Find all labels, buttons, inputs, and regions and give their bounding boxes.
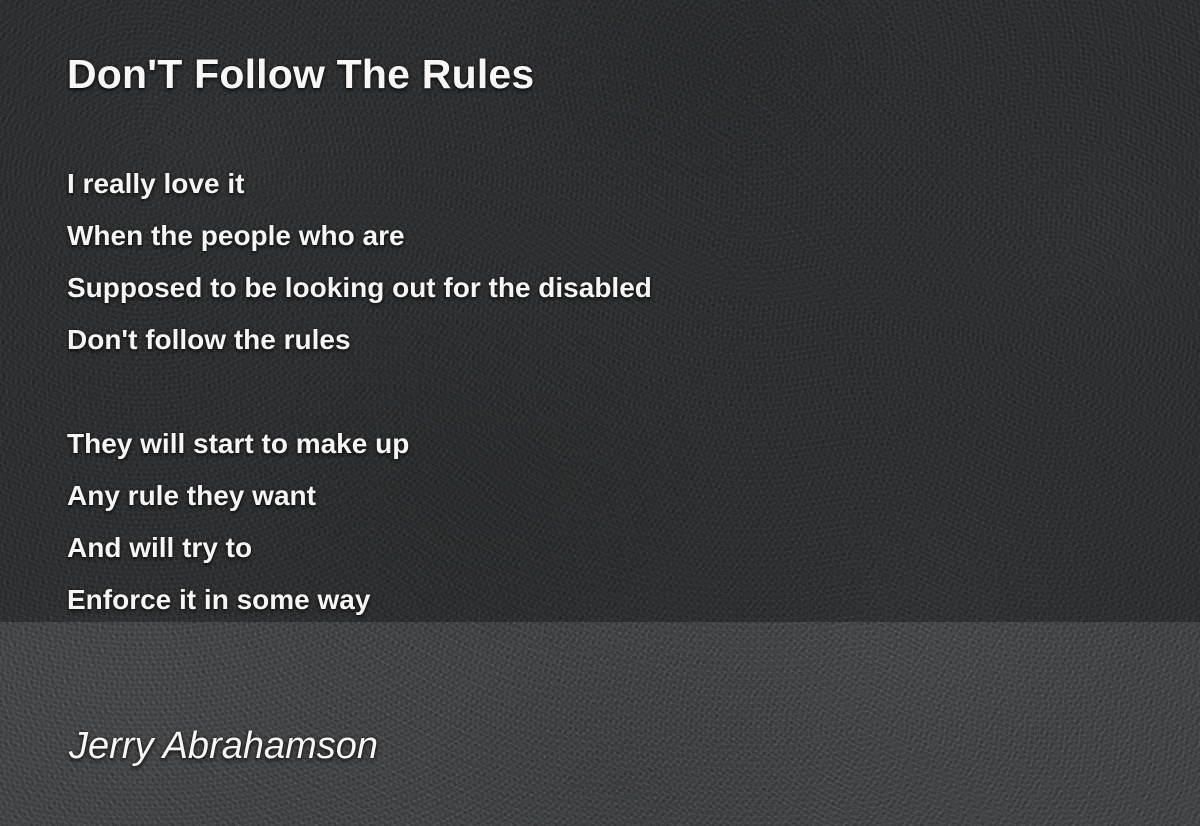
poem-line: Any rule they want	[67, 470, 1127, 522]
poem-stanza: I really love it When the people who are…	[67, 158, 1127, 366]
poem-line: I really love it	[67, 158, 1127, 210]
poem-line: They will start to make up	[67, 418, 1127, 470]
poem-line: Enforce it in some way	[67, 574, 1127, 626]
poem-line: Supposed to be looking out for the disab…	[67, 262, 1127, 314]
poem-line: Don't follow the rules	[67, 314, 1127, 366]
poem-line: And will try to	[67, 522, 1127, 574]
poem-line: When the people who are	[67, 210, 1127, 262]
poem-image-card: Don'T Follow The Rules I really love it …	[0, 0, 1200, 826]
poem-stanza: They will start to make up Any rule they…	[67, 418, 1127, 626]
poem-author-signature: Jerry Abrahamson	[69, 726, 378, 768]
poem-title: Don'T Follow The Rules	[67, 53, 534, 96]
poem-body: I really love it When the people who are…	[67, 158, 1127, 626]
poem-content: Don'T Follow The Rules I really love it …	[0, 0, 1200, 826]
